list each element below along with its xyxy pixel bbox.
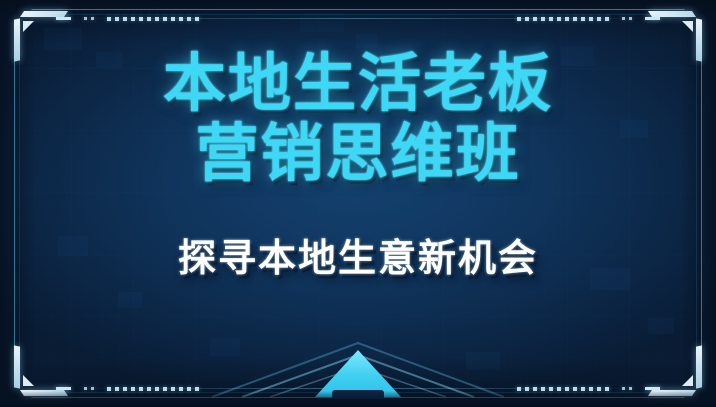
poster-banner: 本地生活老板 营销思维班 探寻本地生意新机会 bbox=[0, 0, 716, 407]
poster-subtitle: 探寻本地生意新机会 bbox=[178, 227, 538, 282]
bottom-edge-glow bbox=[0, 391, 716, 407]
bottom-arrow-cluster bbox=[208, 333, 508, 399]
poster-title-line-2: 营销思维班 bbox=[196, 122, 521, 186]
poster-title-line-1: 本地生活老板 bbox=[163, 52, 553, 116]
